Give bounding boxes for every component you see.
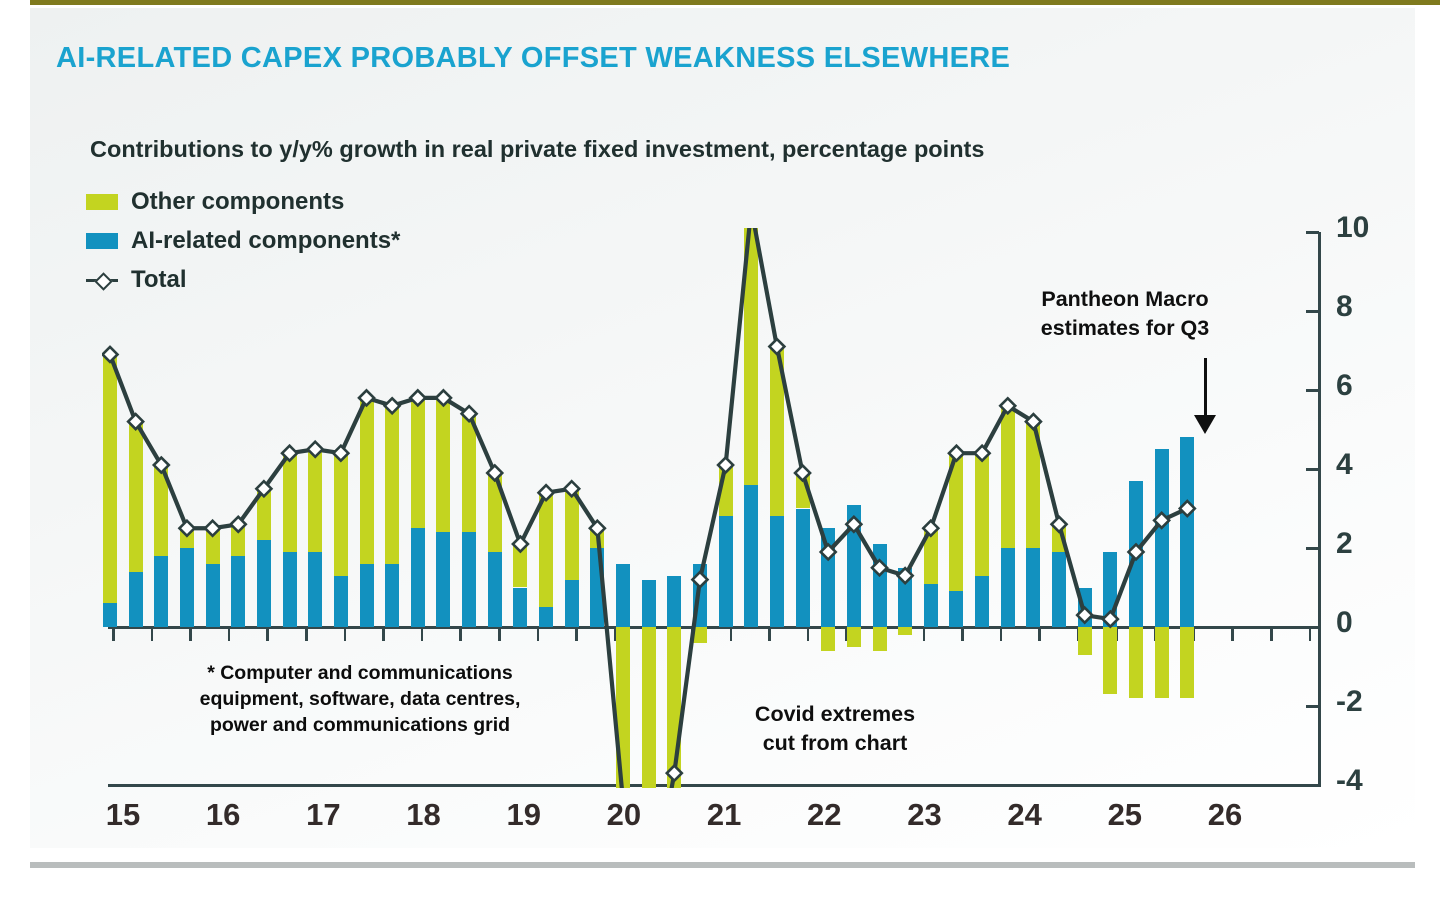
- total-line-marker: [1077, 608, 1092, 623]
- total-line-marker: [333, 446, 348, 461]
- total-line-marker: [513, 537, 528, 552]
- total-line-marker: [487, 465, 502, 480]
- total-line-marker: [385, 398, 400, 413]
- total-line-marker: [359, 390, 374, 405]
- total-line-marker: [616, 793, 631, 808]
- total-line-marker: [1103, 612, 1118, 627]
- forecast-arrow-shaft: [1204, 358, 1207, 420]
- covid-note: Covid extremes cut from chart: [700, 700, 970, 758]
- total-line-marker: [1052, 517, 1067, 532]
- total-line-marker: [205, 521, 220, 536]
- total-line-marker: [975, 446, 990, 461]
- total-line-overlay: [0, 0, 1440, 899]
- slide-root: AI-RELATED CAPEX PROBABLY OFFSET WEAKNES…: [0, 0, 1440, 899]
- footnote-ai-definition: * Computer and communications equipment,…: [100, 660, 620, 738]
- total-line-marker: [179, 521, 194, 536]
- total-line-marker: [692, 572, 707, 587]
- forecast-note: Pantheon Macro estimates for Q3: [1000, 285, 1250, 343]
- total-line-marker: [539, 485, 554, 500]
- total-line-marker: [1180, 501, 1195, 516]
- total-line-marker: [667, 766, 682, 781]
- total-line-marker: [308, 442, 323, 457]
- total-line-marker: [103, 347, 118, 362]
- forecast-arrow-head: [1194, 415, 1216, 434]
- total-line-marker: [744, 201, 759, 216]
- total-line-marker: [898, 568, 913, 583]
- total-line-marker: [795, 465, 810, 480]
- total-line-marker: [769, 339, 784, 354]
- total-line-marker: [949, 446, 964, 461]
- total-line-marker: [410, 390, 425, 405]
- total-line-marker: [718, 458, 733, 473]
- total-line-marker: [923, 521, 938, 536]
